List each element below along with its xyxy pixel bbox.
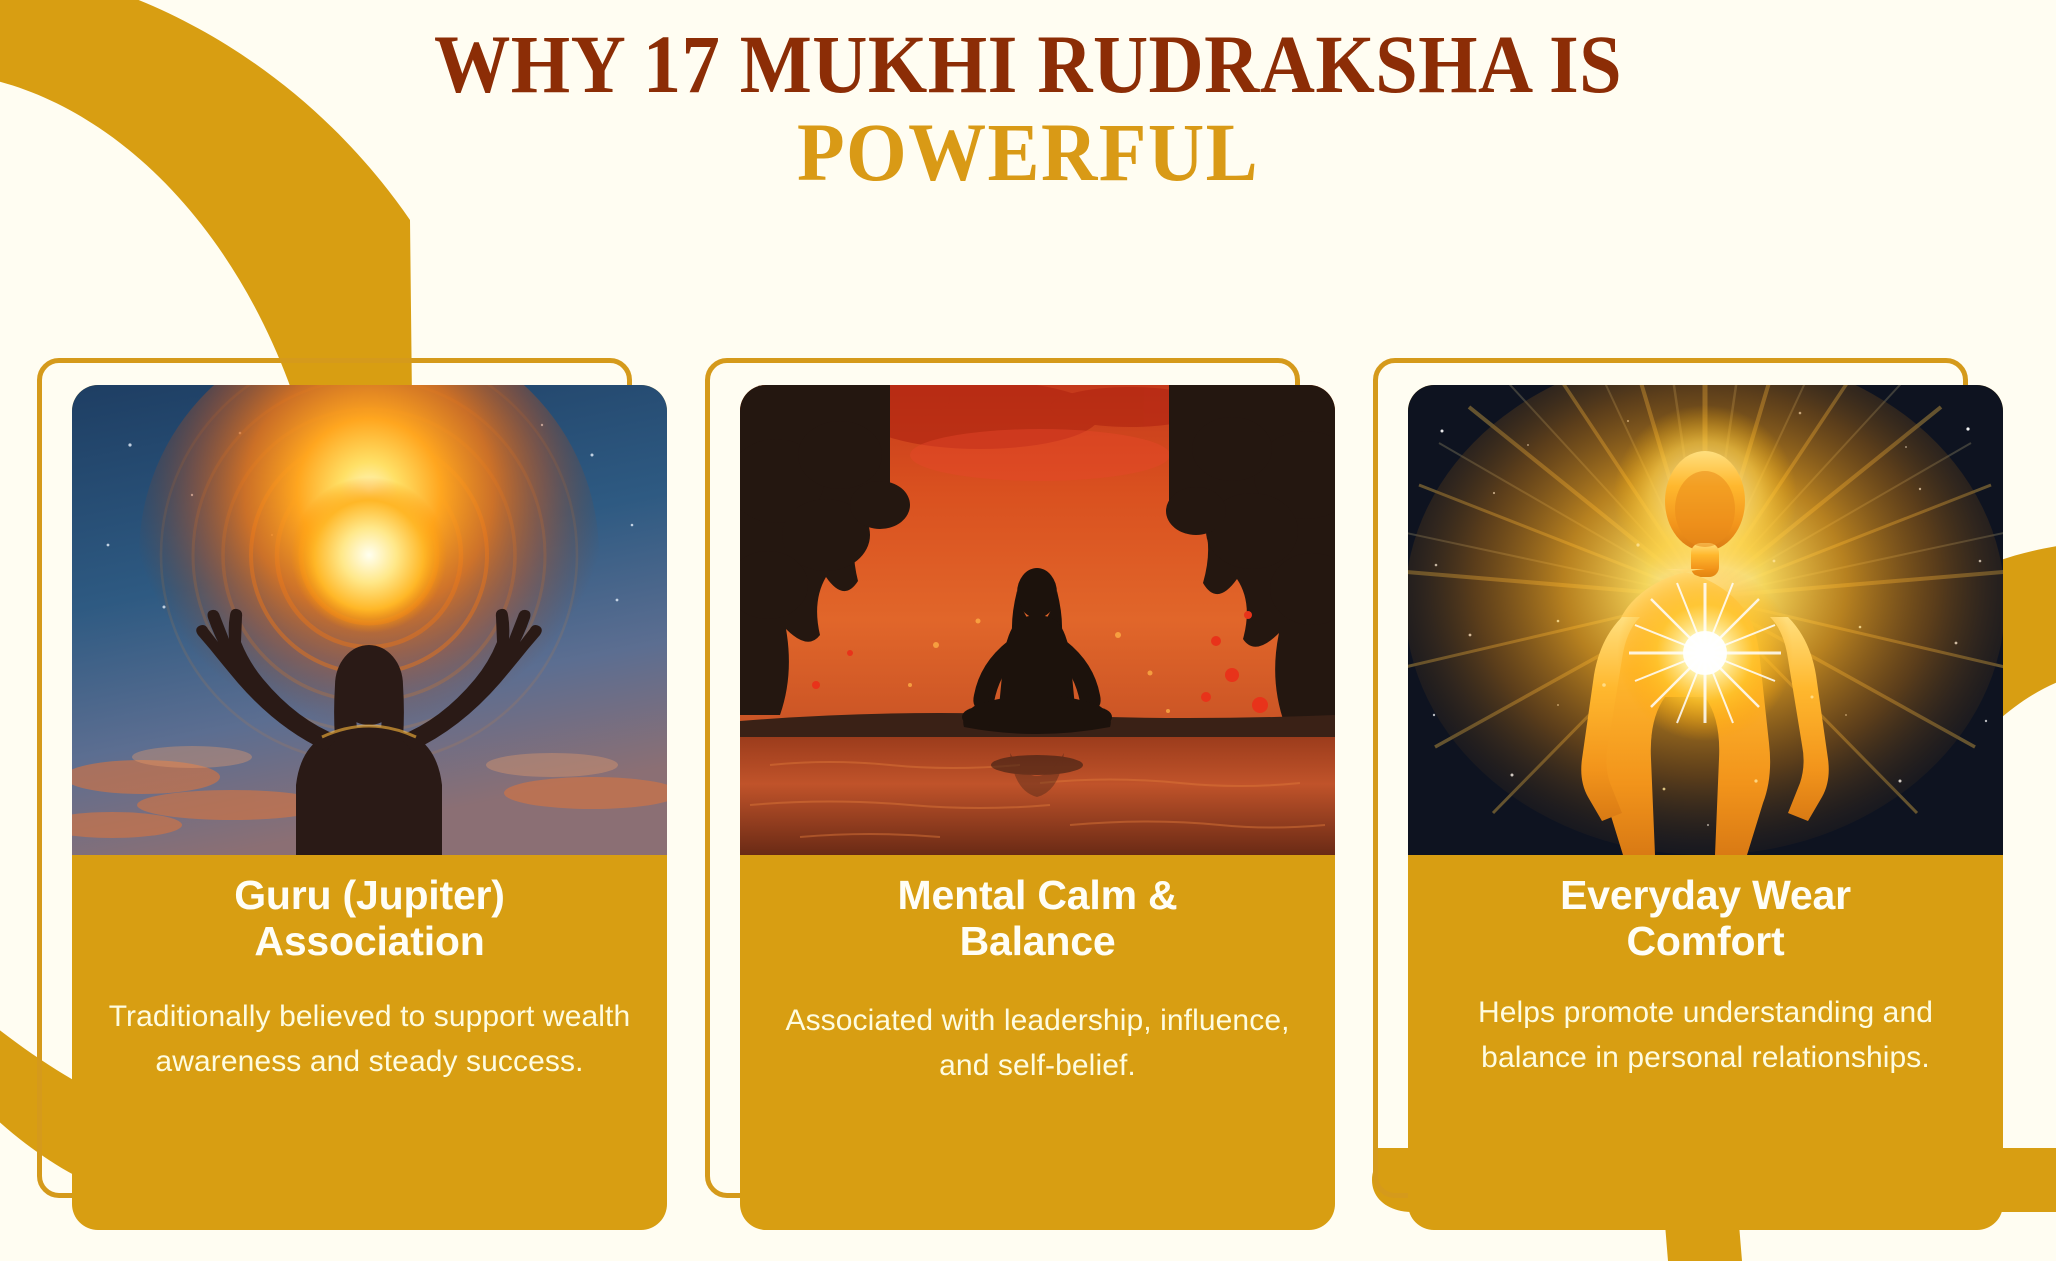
card-everyday-wear-comfort[interactable]: Everyday Wear Comfort Helps promote unde…	[1386, 363, 1981, 1228]
card-title: Everyday Wear Comfort	[1438, 873, 1973, 965]
sunburst-figure-arms-raised-image	[72, 385, 667, 855]
page-title-line-1: WHY 17 MUKHI RUDRAKSHA IS	[82, 22, 1974, 107]
card-text-block: Everyday Wear Comfort Helps promote unde…	[1408, 855, 2003, 1106]
glowing-aura-body-starfield-image	[1408, 385, 2003, 855]
infographic-canvas: WHY 17 MUKHI RUDRAKSHA IS POWERFUL	[0, 0, 2056, 1261]
card-title: Mental Calm & Balance	[770, 873, 1305, 965]
card-surface[interactable]: Everyday Wear Comfort Helps promote unde…	[1408, 385, 2003, 1230]
card-description: Associated with leadership, influence, a…	[770, 999, 1305, 1088]
card-description: Helps promote understanding and balance …	[1438, 991, 1973, 1080]
card-text-block: Guru (Jupiter) Association Traditionally…	[72, 855, 667, 1110]
card-guru-jupiter-association[interactable]: Guru (Jupiter) Association Traditionally…	[50, 363, 645, 1228]
meditating-silhouette-sunset-lake-image	[740, 385, 1335, 855]
header: WHY 17 MUKHI RUDRAKSHA IS POWERFUL	[0, 22, 2056, 196]
page-title-line-2: POWERFUL	[62, 109, 1995, 196]
card-surface[interactable]: Guru (Jupiter) Association Traditionally…	[72, 385, 667, 1230]
card-mental-calm-and-balance[interactable]: Mental Calm & Balance Associated with le…	[718, 363, 1313, 1228]
card-title: Guru (Jupiter) Association	[102, 873, 637, 965]
card-text-block: Mental Calm & Balance Associated with le…	[740, 855, 1335, 1114]
card-surface[interactable]: Mental Calm & Balance Associated with le…	[740, 385, 1335, 1230]
card-description: Traditionally believed to support wealth…	[102, 995, 637, 1084]
